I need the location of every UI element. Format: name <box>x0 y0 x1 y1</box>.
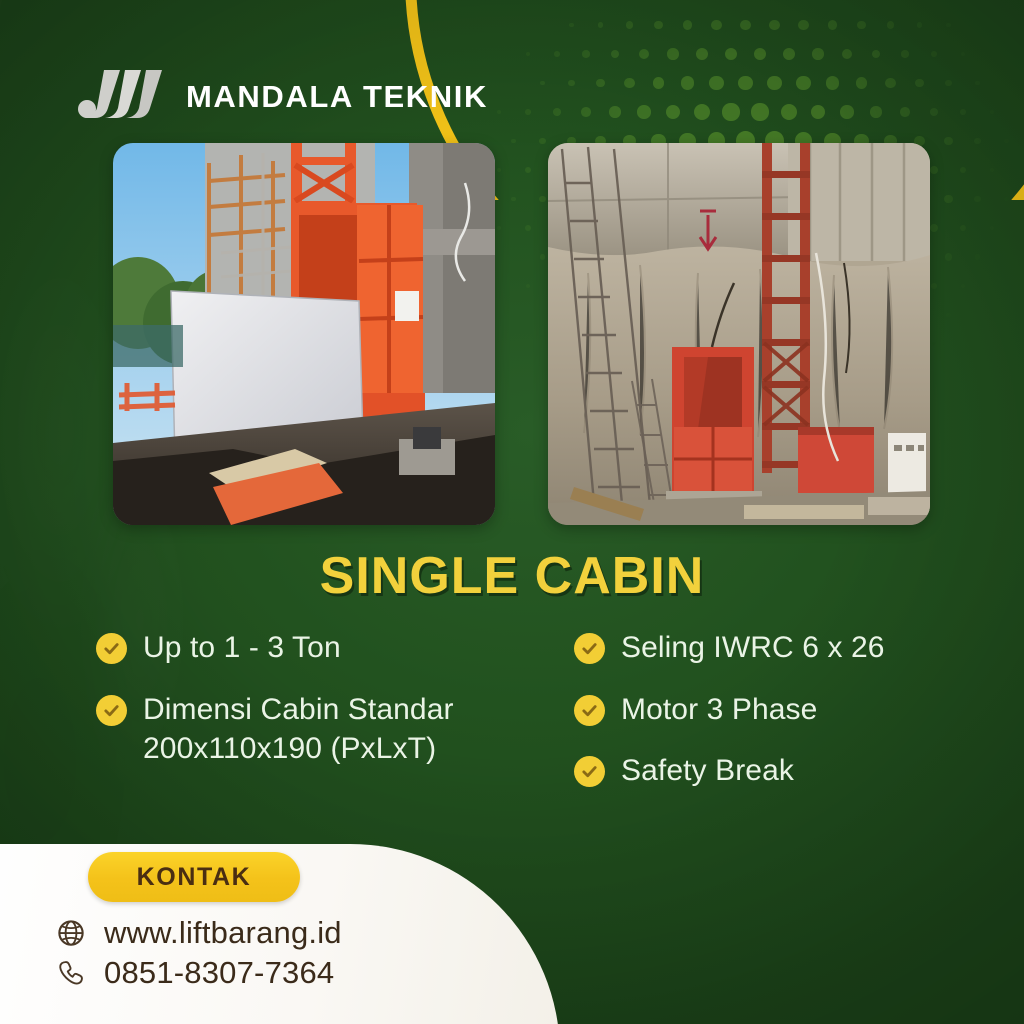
kontak-badge: KONTAK <box>88 852 300 902</box>
check-circle-icon <box>574 695 605 726</box>
feature-label: Motor 3 Phase <box>621 690 817 730</box>
feature-item: Up to 1 - 3 Ton <box>96 628 498 668</box>
contact-phone[interactable]: 0851-8307-7364 <box>56 955 334 991</box>
feature-item: Motor 3 Phase <box>574 690 976 730</box>
feature-list: Up to 1 - 3 Ton Dimensi Cabin Standar 20… <box>96 628 976 813</box>
brand-header: MANDALA TEKNIK <box>78 68 488 126</box>
feature-column-left: Up to 1 - 3 Ton Dimensi Cabin Standar 20… <box>96 628 498 813</box>
globe-icon <box>56 918 86 948</box>
feature-label: Seling IWRC 6 x 26 <box>621 628 885 668</box>
photo-construction-hoist-orange-cabin <box>113 143 495 525</box>
phone-icon <box>56 958 86 988</box>
page-title: SINGLE CABIN <box>0 546 1024 606</box>
feature-label: Safety Break <box>621 751 794 791</box>
phone-text: 0851-8307-7364 <box>104 955 334 991</box>
feature-label: Dimensi Cabin Standar 200x110x190 (PxLxT… <box>143 690 498 769</box>
feature-item: Seling IWRC 6 x 26 <box>574 628 976 668</box>
brand-name: MANDALA TEKNIK <box>186 79 488 115</box>
feature-item: Safety Break <box>574 751 976 791</box>
check-circle-icon <box>96 695 127 726</box>
contact-website[interactable]: www.liftbarang.id <box>56 915 342 951</box>
poster-canvas: MANDALA TEKNIK <box>0 0 1024 1024</box>
photo-construction-hoist-red-cabin <box>548 143 930 525</box>
check-circle-icon <box>574 633 605 664</box>
mandala-m-logo-icon <box>78 68 164 126</box>
check-circle-icon <box>574 756 605 787</box>
feature-item: Dimensi Cabin Standar 200x110x190 (PxLxT… <box>96 690 498 769</box>
feature-column-right: Seling IWRC 6 x 26 Motor 3 Phase Safety … <box>574 628 976 813</box>
feature-label: Up to 1 - 3 Ton <box>143 628 341 668</box>
website-text: www.liftbarang.id <box>104 915 342 951</box>
check-circle-icon <box>96 633 127 664</box>
